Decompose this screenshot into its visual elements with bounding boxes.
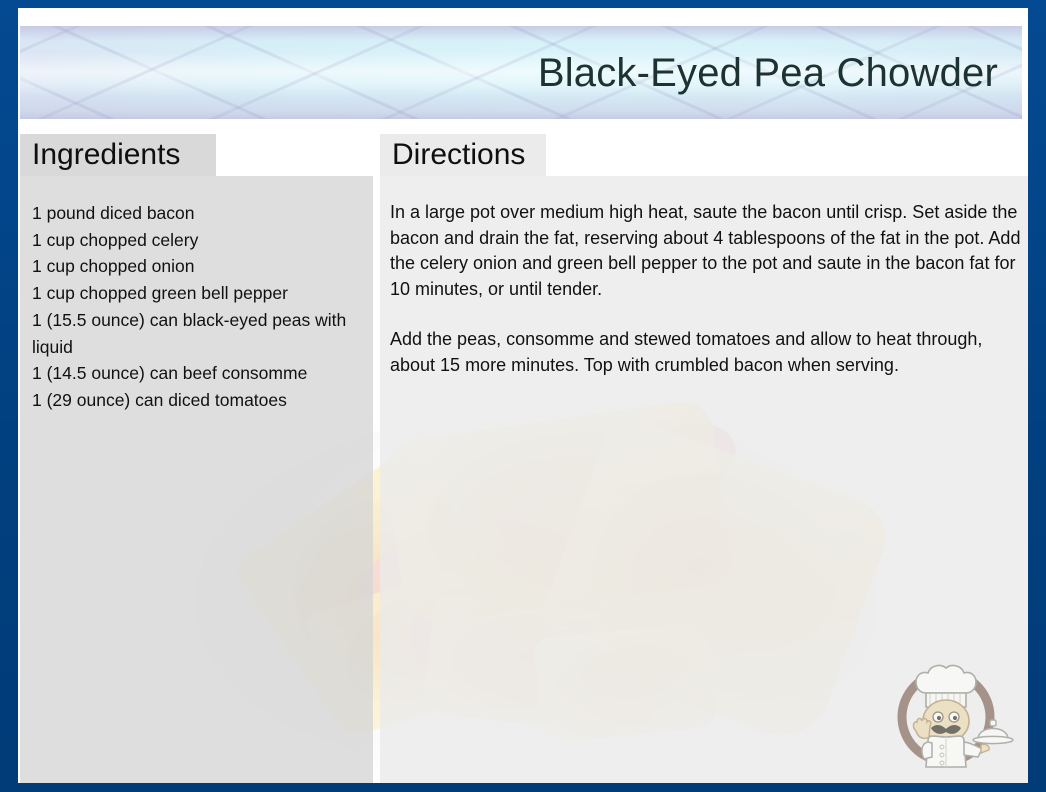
list-item: 1 pound diced bacon [32,200,359,227]
list-item: 1 (14.5 ounce) can beef consomme [32,360,359,387]
ingredients-list: 1 pound diced bacon 1 cup chopped celery… [20,176,373,783]
title-banner: Black-Eyed Pea Chowder [20,26,1022,119]
slide-page: Black-Eyed Pea Chowder Ingredients 1 pou… [18,8,1028,783]
direction-paragraph: In a large pot over medium high heat, sa… [390,200,1022,302]
list-item: 1 (29 ounce) can diced tomatoes [32,387,359,414]
list-item: 1 cup chopped green bell pepper [32,280,359,307]
list-item: 1 cup chopped celery [32,227,359,254]
directions-heading: Directions [380,134,546,176]
list-item: 1 cup chopped onion [32,253,359,280]
directions-panel: Directions In a large pot over medium hi… [380,134,1028,783]
list-item: 1 (15.5 ounce) can black-eyed peas with … [32,307,359,360]
ingredients-heading: Ingredients [20,134,216,176]
ingredients-panel: Ingredients 1 pound diced bacon 1 cup ch… [20,134,373,783]
page-title: Black-Eyed Pea Chowder [538,53,998,93]
slide-frame: Black-Eyed Pea Chowder Ingredients 1 pou… [0,0,1046,792]
directions-text: In a large pot over medium high heat, sa… [380,176,1028,783]
direction-paragraph: Add the peas, consomme and stewed tomato… [390,327,1022,378]
